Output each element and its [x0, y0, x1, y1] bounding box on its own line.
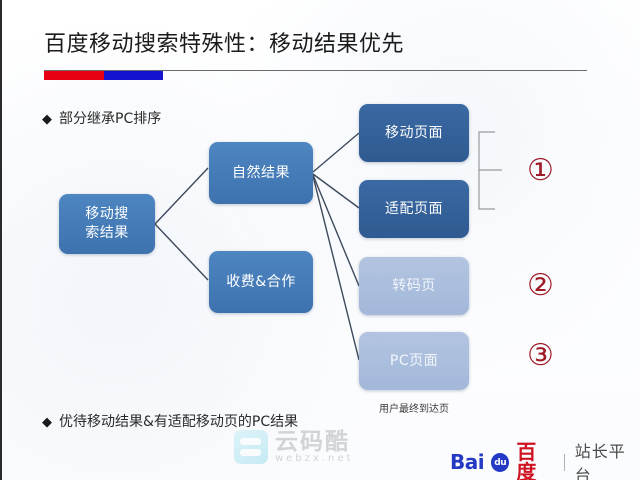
node-label: 收费&合作 — [226, 273, 295, 292]
node-paid-and-partnership[interactable]: 收费&合作 — [209, 251, 313, 313]
diagram-caption: 用户最终到达页 — [379, 400, 449, 415]
bullet-text-2: 优待移动结果&有适配移动页的PC结果 — [59, 414, 298, 430]
node-mobile-page[interactable]: 移动页面 — [359, 104, 469, 162]
watermark-en: webzx.net — [275, 454, 353, 465]
watermark-icon — [234, 430, 268, 464]
node-label: 移动页面 — [385, 124, 443, 143]
bullet-item-2: ◆优待移动结果&有适配移动页的PC结果 — [42, 411, 298, 431]
slide-canvas: 百度移动搜索特殊性：移动结果优先 ◆部分继承PC排序 ◆优待移动结果&有适配移动… — [0, 0, 640, 480]
node-label: 自然结果 — [232, 164, 290, 183]
page-title: 百度移动搜索特殊性：移动结果优先 — [44, 30, 404, 60]
baidu-sub-brand: 站长平台 — [575, 438, 640, 480]
node-label: 移动搜索结果 — [85, 205, 129, 243]
accent-bar-red — [44, 71, 104, 80]
bullet-text-1: 部分继承PC排序 — [59, 111, 161, 127]
marker-three: ③ — [527, 341, 554, 371]
baidu-logo: Bai du 百度 站长平台 — [450, 438, 640, 480]
node-label: 转码页 — [392, 277, 436, 296]
baidu-wordmark-bai: Bai — [450, 452, 484, 472]
marker-two: ② — [527, 271, 554, 301]
node-transcoded-page[interactable]: 转码页 — [359, 257, 469, 315]
paw-print-icon: du — [491, 453, 509, 472]
node-adapted-page[interactable]: 适配页面 — [359, 180, 469, 238]
node-mobile-search-results[interactable]: 移动搜索结果 — [59, 194, 155, 254]
watermark-cn: 云码酷 — [275, 430, 353, 454]
diamond-bullet-icon: ◆ — [42, 112, 52, 127]
node-natural-results[interactable]: 自然结果 — [209, 142, 313, 204]
watermark-text: 云码酷 webzx.net — [275, 430, 353, 465]
logo-divider — [564, 454, 565, 471]
node-label: 适配页面 — [385, 200, 443, 219]
marker-one: ① — [527, 156, 554, 186]
baidu-wordmark-cn: 百度 — [516, 442, 553, 480]
bullet-item-1: ◆部分继承PC排序 — [42, 108, 161, 128]
watermark: 云码酷 webzx.net — [234, 430, 353, 465]
node-pc-page[interactable]: PC页面 — [359, 332, 469, 390]
accent-bar-blue — [104, 71, 163, 80]
diamond-bullet-icon: ◆ — [42, 415, 52, 430]
node-label: PC页面 — [390, 352, 438, 371]
paw-label: du — [494, 458, 506, 468]
